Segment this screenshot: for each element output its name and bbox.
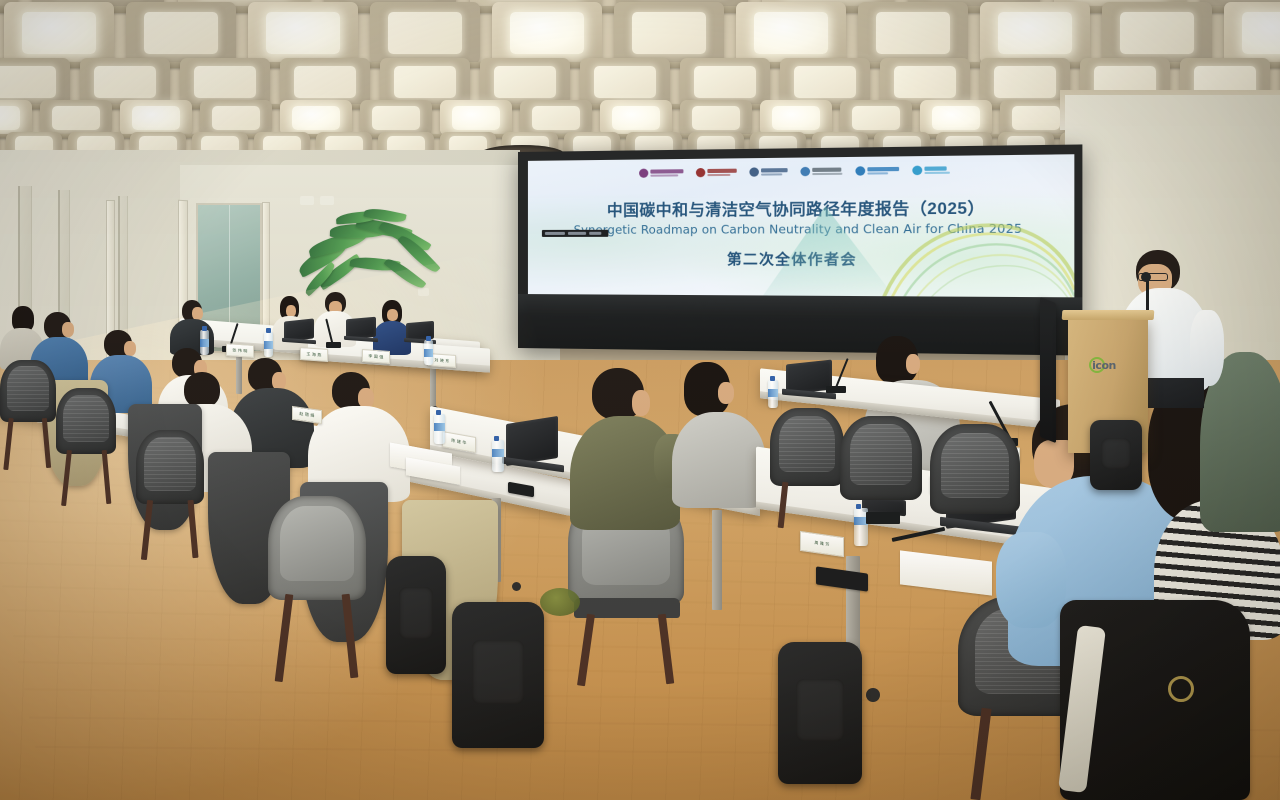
- screen-bezel: [518, 294, 1082, 356]
- shoe-or-object: [540, 588, 580, 616]
- projection-screen-frame: 中国碳中和与清洁空气协同路径年度报告（2025） Synergetic Road…: [518, 144, 1082, 355]
- podium-top-surface: [1062, 310, 1155, 320]
- ceiling-light-panel: [480, 58, 570, 106]
- backpack-2: [452, 602, 544, 748]
- ceiling-light-panel: [370, 2, 480, 64]
- tsinghua-university-wordmark: [650, 169, 683, 177]
- ceiling-light-panel: [880, 58, 970, 106]
- chair-left-1[interactable]: [0, 360, 58, 470]
- side-monitor: [1040, 297, 1056, 443]
- slide-logo-row: [528, 163, 1074, 180]
- water-bottle: [264, 332, 273, 357]
- slide-title-english: Synergetic Roadmap on Carbon Neutrality …: [528, 221, 1074, 237]
- ceiling-light-panel: [680, 58, 770, 106]
- bag-on-table: [1090, 420, 1142, 490]
- nanjing-university-of-information-science-technology-wordmark: [867, 167, 899, 175]
- slide-logo-nanjing-university-of-information-science-technology: [855, 165, 899, 177]
- ceiling-light-panel: [126, 2, 236, 64]
- ceiling-light-panel: [1224, 2, 1280, 64]
- beijing-research-institute-wordmark: [761, 168, 788, 176]
- peking-university-wordmark: [707, 168, 736, 176]
- water-bottle: [200, 330, 209, 355]
- wall-plate-1: [300, 196, 314, 205]
- slide-logo-tsinghua-university: [639, 167, 683, 179]
- ceiling-light-panel: [760, 100, 832, 136]
- table-caster: [512, 582, 521, 591]
- ceiling-light-panel: [858, 2, 968, 64]
- peking-university-mark-icon: [696, 168, 705, 177]
- ceiling-light-panel: [1102, 2, 1212, 64]
- ccapp-program-mark-icon: [912, 166, 922, 176]
- ceiling-light-panel: [380, 58, 470, 106]
- water-bottle: [768, 380, 778, 408]
- beijing-research-institute-mark-icon: [749, 167, 759, 176]
- water-bottle: [492, 440, 504, 472]
- name-placard: 王 海 燕: [300, 347, 328, 362]
- slide-logo-aviation-institute: [800, 165, 842, 177]
- ceiling-light-panel: [180, 58, 270, 106]
- tsinghua-university-mark-icon: [639, 169, 648, 178]
- ceiling-light-panel: [840, 100, 912, 136]
- ceiling-light-panel: [4, 2, 114, 64]
- aviation-institute-wordmark: [812, 167, 842, 175]
- podium-logo: icon: [1082, 356, 1126, 374]
- ceiling-light-panel: [0, 58, 70, 106]
- chair-right-2[interactable]: [840, 416, 924, 544]
- ceiling-light-panel: [920, 100, 992, 136]
- ceiling-light-panel: [248, 2, 358, 64]
- podium-microphone-head: [1141, 272, 1151, 282]
- conference-room-photo: 中国碳中和与清洁空气协同路径年度报告（2025） Synergetic Road…: [0, 0, 1280, 800]
- aviation-institute-mark-icon: [800, 167, 810, 176]
- slide-logo-peking-university: [696, 167, 737, 179]
- backpack-1: [386, 556, 446, 674]
- water-bottle: [434, 414, 445, 444]
- head-table-leg-2: [430, 366, 436, 410]
- backpack-3: [778, 642, 862, 784]
- jacket-emblem: [1168, 676, 1194, 702]
- ceiling-light-panel: [736, 2, 846, 64]
- table-caster: [866, 688, 880, 702]
- chair-left-3[interactable]: [136, 430, 206, 560]
- ceiling-light-panel: [80, 58, 170, 106]
- slide-logo-beijing-research-institute: [749, 166, 787, 178]
- head-table-leg-1: [236, 352, 242, 394]
- ceiling-light-panel: [492, 2, 602, 64]
- ceiling-light-panel: [360, 100, 432, 136]
- microphone-base-2: [326, 342, 341, 348]
- ccapp-program-wordmark: [924, 166, 950, 174]
- ceiling-light-panel: [40, 100, 112, 136]
- chair-left-4[interactable]: [268, 496, 368, 682]
- ceiling-light-panel: [120, 100, 192, 136]
- ceiling-light-panel: [520, 100, 592, 136]
- ceiling-light-panel: [440, 100, 512, 136]
- ceiling-light-panel: [280, 58, 370, 106]
- name-placard: 张 伟 明: [226, 343, 254, 358]
- name-placard: 李 国 强: [362, 349, 390, 364]
- slide-logo-ccapp-program: [912, 164, 950, 176]
- ceiling-light-panel: [980, 2, 1090, 64]
- ceiling-light-panel: [600, 100, 672, 136]
- projection-screen: 中国碳中和与清洁空气协同路径年度报告（2025） Synergetic Road…: [528, 154, 1074, 297]
- ceiling-light-panel: [200, 100, 272, 136]
- center-table-leg: [712, 510, 722, 610]
- ceiling-light-panel: [280, 100, 352, 136]
- ceiling-light-panel: [980, 58, 1070, 106]
- chair-right-1[interactable]: [770, 408, 846, 528]
- ceiling-light-panel: [614, 2, 724, 64]
- water-bottle: [424, 340, 433, 365]
- ceiling-light-panel: [680, 100, 752, 136]
- wall-plate-2: [320, 196, 334, 205]
- ceiling-light-panel: [780, 58, 870, 106]
- chair-left-2[interactable]: [56, 388, 118, 506]
- ceiling-light-panel: [580, 58, 670, 106]
- ceiling-light-panel: [0, 100, 32, 136]
- nanjing-university-of-information-science-technology-mark-icon: [855, 166, 865, 176]
- slide-title-chinese: 中国碳中和与清洁空气协同路径年度报告（2025）: [528, 195, 1074, 221]
- microphone-base-3: [826, 386, 846, 393]
